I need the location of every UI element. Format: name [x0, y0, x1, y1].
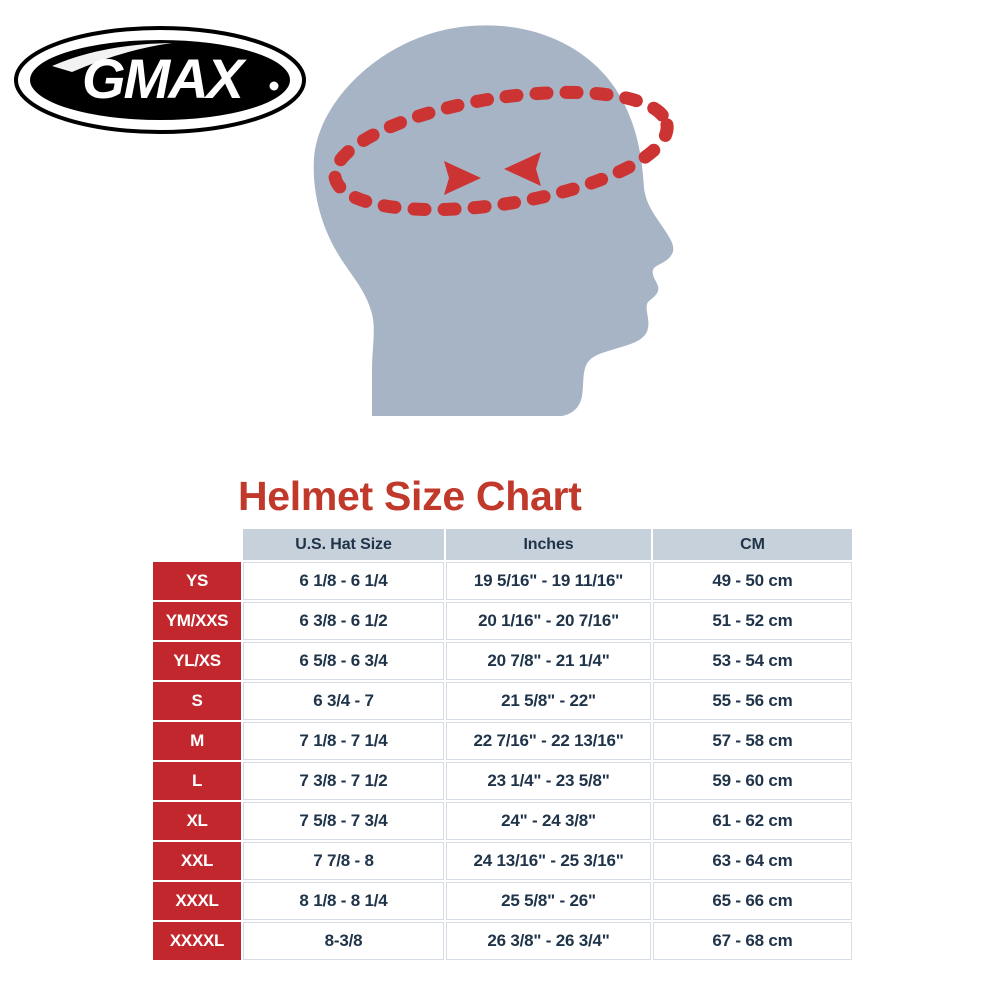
column-header-cm: CM — [653, 529, 852, 560]
cm-value: 63 - 64 cm — [653, 842, 852, 880]
size-label: YL/XS — [153, 642, 241, 680]
column-header-inches: Inches — [446, 529, 651, 560]
size-label: L — [153, 762, 241, 800]
hat-size-value: 6 3/8 - 6 1/2 — [243, 602, 444, 640]
table-row: S 6 3/4 - 7 21 5/8" - 22" 55 - 56 cm — [153, 682, 852, 720]
size-label: M — [153, 722, 241, 760]
inches-value: 25 5/8" - 26" — [446, 882, 651, 920]
cm-value: 61 - 62 cm — [653, 802, 852, 840]
hat-size-value: 7 5/8 - 7 3/4 — [243, 802, 444, 840]
table-header: U.S. Hat Size Inches CM — [153, 529, 852, 560]
cm-value: 57 - 58 cm — [653, 722, 852, 760]
hat-size-value: 7 3/8 - 7 1/2 — [243, 762, 444, 800]
size-label: S — [153, 682, 241, 720]
size-label: XXXL — [153, 882, 241, 920]
table-row: M 7 1/8 - 7 1/4 22 7/16" - 22 13/16" 57 … — [153, 722, 852, 760]
table-row: YM/XXS 6 3/8 - 6 1/2 20 1/16" - 20 7/16"… — [153, 602, 852, 640]
inches-value: 20 7/8" - 21 1/4" — [446, 642, 651, 680]
inches-value: 22 7/16" - 22 13/16" — [446, 722, 651, 760]
table-row: XXL 7 7/8 - 8 24 13/16" - 25 3/16" 63 - … — [153, 842, 852, 880]
hat-size-value: 6 3/4 - 7 — [243, 682, 444, 720]
header-row: U.S. Hat Size Inches CM — [153, 529, 852, 560]
gmax-logo: GMAX — [12, 22, 308, 138]
cm-value: 53 - 54 cm — [653, 642, 852, 680]
cm-value: 51 - 52 cm — [653, 602, 852, 640]
inches-value: 20 1/16" - 20 7/16" — [446, 602, 651, 640]
table-body: YS 6 1/8 - 6 1/4 19 5/16" - 19 11/16" 49… — [153, 562, 852, 960]
table-row: YS 6 1/8 - 6 1/4 19 5/16" - 19 11/16" 49… — [153, 562, 852, 600]
table-row: YL/XS 6 5/8 - 6 3/4 20 7/8" - 21 1/4" 53… — [153, 642, 852, 680]
cm-value: 65 - 66 cm — [653, 882, 852, 920]
table-row: XXXXL 8-3/8 26 3/8" - 26 3/4" 67 - 68 cm — [153, 922, 852, 960]
head-measurement-diagram — [276, 18, 726, 463]
inches-value: 21 5/8" - 22" — [446, 682, 651, 720]
helmet-size-table: U.S. Hat Size Inches CM YS 6 1/8 - 6 1/4… — [151, 527, 854, 962]
hat-size-value: 6 1/8 - 6 1/4 — [243, 562, 444, 600]
inches-value: 19 5/16" - 19 11/16" — [446, 562, 651, 600]
inches-value: 23 1/4" - 23 5/8" — [446, 762, 651, 800]
size-label: YS — [153, 562, 241, 600]
table-row: XL 7 5/8 - 7 3/4 24" - 24 3/8" 61 - 62 c… — [153, 802, 852, 840]
hat-size-value: 7 7/8 - 8 — [243, 842, 444, 880]
size-label: XXL — [153, 842, 241, 880]
size-label: YM/XXS — [153, 602, 241, 640]
inches-value: 26 3/8" - 26 3/4" — [446, 922, 651, 960]
size-table-container: U.S. Hat Size Inches CM YS 6 1/8 - 6 1/4… — [151, 527, 850, 962]
head-silhouette — [314, 25, 674, 416]
hat-size-value: 7 1/8 - 7 1/4 — [243, 722, 444, 760]
helmet-size-chart-page: GMAX Helmet S — [0, 0, 1000, 1000]
cm-value: 55 - 56 cm — [653, 682, 852, 720]
cm-value: 67 - 68 cm — [653, 922, 852, 960]
page-title: Helmet Size Chart — [238, 475, 858, 518]
hat-size-value: 8-3/8 — [243, 922, 444, 960]
cm-value: 49 - 50 cm — [653, 562, 852, 600]
gmax-logo-svg: GMAX — [12, 22, 308, 138]
size-label: XXXXL — [153, 922, 241, 960]
inches-value: 24 13/16" - 25 3/16" — [446, 842, 651, 880]
table-corner-blank — [153, 529, 241, 560]
hat-size-value: 8 1/8 - 8 1/4 — [243, 882, 444, 920]
head-diagram-svg — [276, 18, 726, 463]
inches-value: 24" - 24 3/8" — [446, 802, 651, 840]
cm-value: 59 - 60 cm — [653, 762, 852, 800]
column-header-hat-size: U.S. Hat Size — [243, 529, 444, 560]
table-row: XXXL 8 1/8 - 8 1/4 25 5/8" - 26" 65 - 66… — [153, 882, 852, 920]
size-label: XL — [153, 802, 241, 840]
table-row: L 7 3/8 - 7 1/2 23 1/4" - 23 5/8" 59 - 6… — [153, 762, 852, 800]
hat-size-value: 6 5/8 - 6 3/4 — [243, 642, 444, 680]
